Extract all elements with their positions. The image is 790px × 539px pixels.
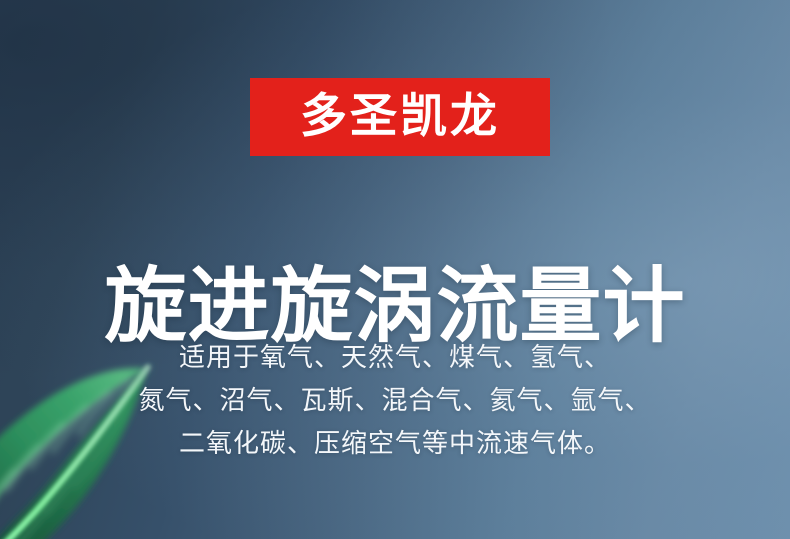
description-line-1: 适用于氧气、天然气、煤气、氢气、 xyxy=(0,336,790,379)
product-description: 适用于氧气、天然气、煤气、氢气、 氮气、沼气、瓦斯、混合气、氦气、氩气、 二氧化… xyxy=(0,336,790,465)
brand-plate: 多圣凯龙 xyxy=(250,78,550,156)
description-line-2: 氮气、沼气、瓦斯、混合气、氦气、氩气、 xyxy=(0,379,790,422)
brand-name: 多圣凯龙 xyxy=(300,93,500,142)
description-line-3: 二氧化碳、压缩空气等中流速气体。 xyxy=(0,422,790,465)
product-promo-banner: 多圣凯龙 旋进旋涡流量计 适用于氧气、天然气、煤气、氢气、 氮气、沼气、瓦斯、混… xyxy=(0,0,790,539)
